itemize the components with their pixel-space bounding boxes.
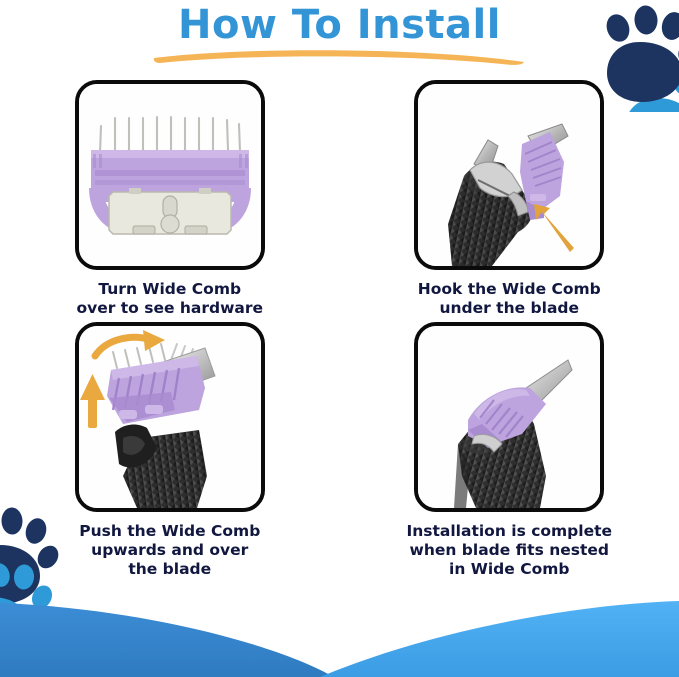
- step-3-caption: Push the Wide Comb upwards and over the …: [79, 522, 260, 579]
- comb-metal-plate: [109, 188, 231, 234]
- title-underline-swoosh: [150, 46, 530, 68]
- wave-right: [320, 601, 679, 677]
- clipper-comb-installed-photo: [418, 326, 600, 508]
- clipper-hook-comb-photo: [418, 84, 600, 266]
- step-2: Hook the Wide Comb under the blade: [340, 80, 679, 318]
- clipper-push-comb-photo: [79, 326, 261, 508]
- page-title-block: How To Install: [0, 2, 679, 68]
- step-4: Installation is complete when blade fits…: [340, 322, 679, 579]
- step-2-caption: Hook the Wide Comb under the blade: [418, 280, 601, 318]
- step-1: Turn Wide Comb over to see hardware: [0, 80, 340, 318]
- wave-left: [0, 603, 330, 677]
- page-title: How To Install: [0, 2, 679, 48]
- step-3-panel: [75, 322, 265, 512]
- step-4-caption: Installation is complete when blade fits…: [406, 522, 612, 579]
- bottom-wave-decoration: [0, 587, 679, 677]
- step-1-panel: [75, 80, 265, 270]
- step-4-panel: [414, 322, 604, 512]
- steps-grid: Turn Wide Comb over to see hardware: [0, 80, 679, 579]
- wide-comb-hardware-photo: [79, 84, 261, 266]
- step-3: Push the Wide Comb upwards and over the …: [0, 322, 340, 579]
- step-2-panel: [414, 80, 604, 270]
- step-1-caption: Turn Wide Comb over to see hardware: [76, 280, 263, 318]
